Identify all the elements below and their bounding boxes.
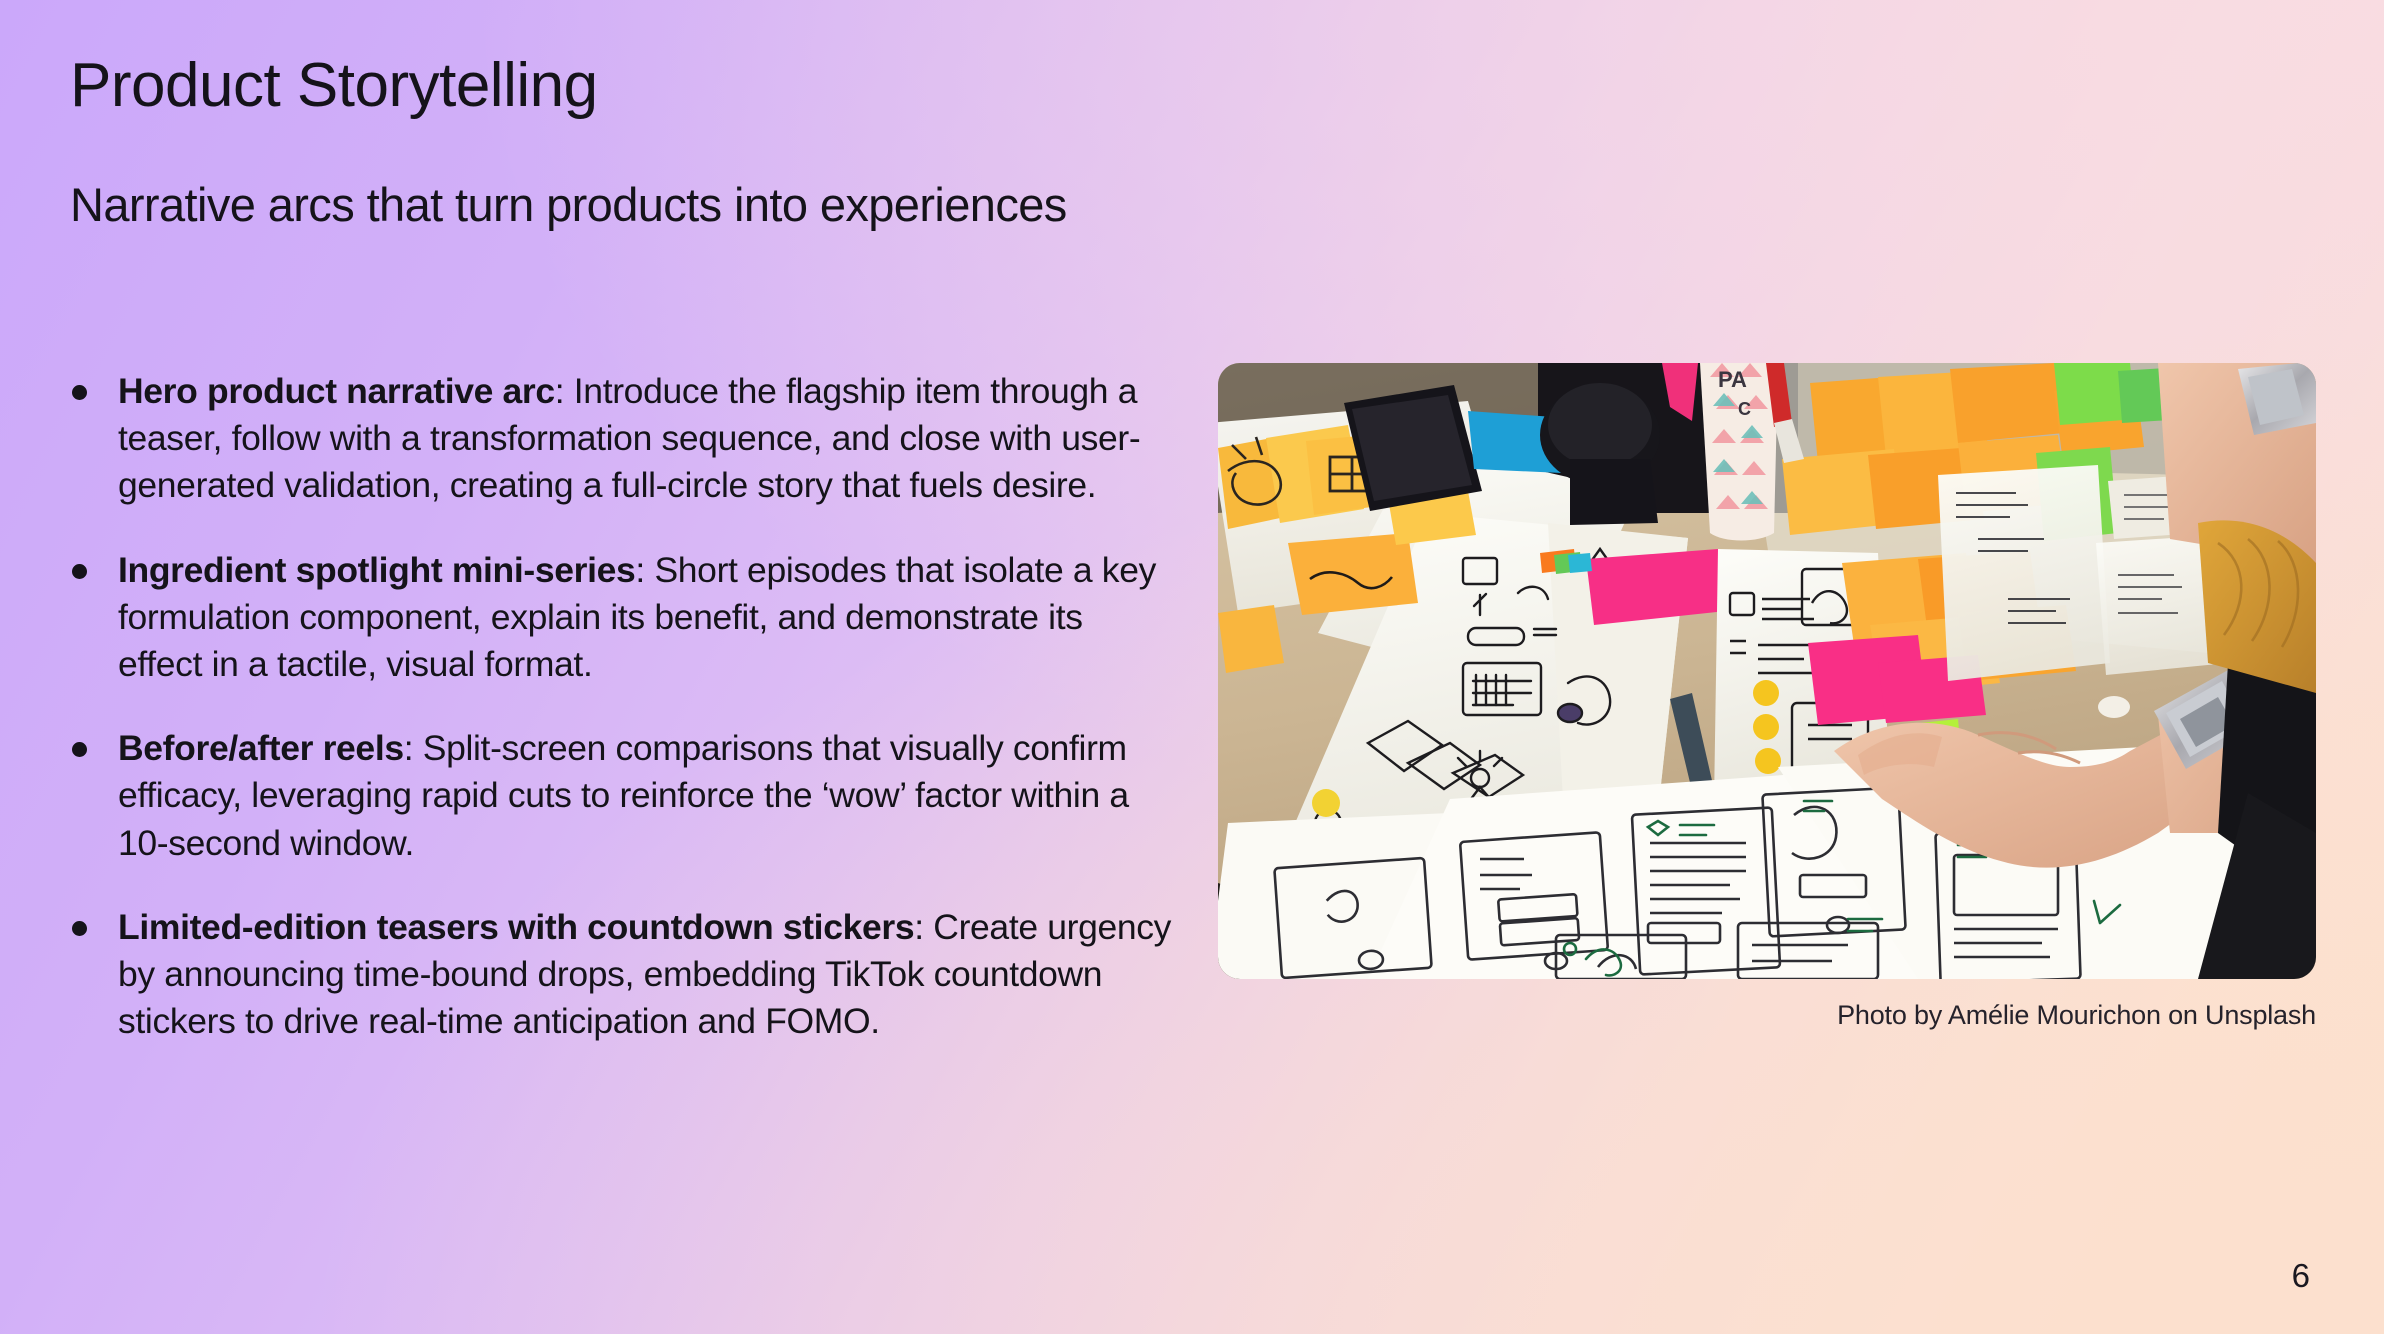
list-item: Limited-edition teasers with countdown s… xyxy=(70,904,1175,1046)
bullet-lead-label: Hero product narrative arc xyxy=(118,371,555,411)
bullet-dot-icon xyxy=(72,742,87,757)
bullet-lead-label: Ingredient spotlight mini-series xyxy=(118,550,635,590)
photo-credit: Photo by Amélie Mourichon on Unsplash xyxy=(1218,1000,2316,1031)
bullet-lead-label: Limited-edition teasers with countdown s… xyxy=(118,907,914,947)
list-item: Hero product narrative arc: Introduce th… xyxy=(70,368,1175,510)
svg-text:C: C xyxy=(1738,399,1751,419)
page-number: 6 xyxy=(2292,1259,2310,1292)
list-item: Before/after reels: Split-screen compari… xyxy=(70,725,1175,867)
bullet-dot-icon xyxy=(72,385,87,400)
workshop-photo-illustration: PA C xyxy=(1218,363,2316,979)
bullet-lead-label: Before/after reels xyxy=(118,728,404,768)
page-title: Product Storytelling xyxy=(70,52,598,120)
bullet-dot-icon xyxy=(72,921,87,936)
bullet-list: Hero product narrative arc: Introduce th… xyxy=(70,368,1175,1045)
workshop-photo: PA C xyxy=(1218,363,2316,979)
list-item: Ingredient spotlight mini-series: Short … xyxy=(70,547,1175,689)
bullet-dot-icon xyxy=(72,564,87,579)
svg-text:PA: PA xyxy=(1718,367,1747,392)
page-subtitle: Narrative arcs that turn products into e… xyxy=(70,178,1067,232)
slide-root: Product Storytelling Narrative arcs that… xyxy=(0,0,2384,1334)
